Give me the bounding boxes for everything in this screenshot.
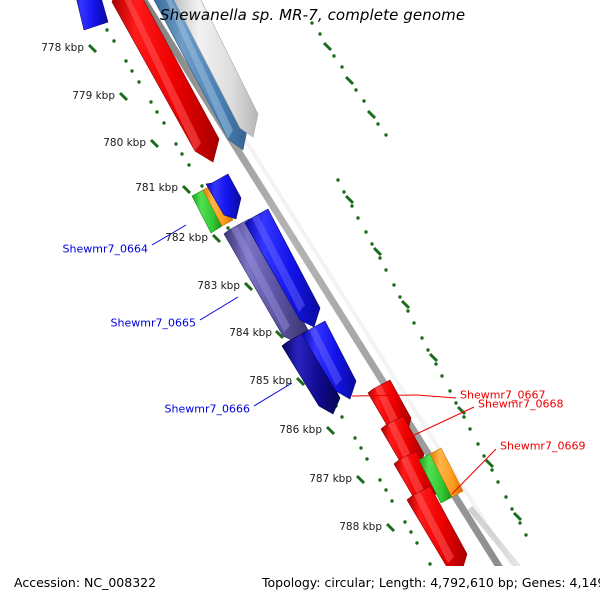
ruler-tick-label: 788 kbp xyxy=(339,521,382,533)
ruler-tick-label: 781 kbp xyxy=(135,182,178,194)
ruler-tick-label: 779 kbp xyxy=(72,90,115,102)
gene-label-shewmr7-0665[interactable]: Shewmr7_0665 xyxy=(111,317,196,330)
leader-0665 xyxy=(200,297,238,320)
leader-0667a xyxy=(417,395,456,398)
accession-text: Accession: NC_008322 xyxy=(14,575,156,590)
ruler-tick-marks xyxy=(89,45,426,577)
ruler-tick-label: 782 kbp xyxy=(165,232,208,244)
genome-map-canvas[interactable]: Shewanella sp. MR-7, complete genome 778… xyxy=(0,0,600,600)
gene-label-shewmr7-0668[interactable]: Shewmr7_0668 xyxy=(478,398,563,411)
feat-blue-top[interactable] xyxy=(72,0,108,30)
page-title: Shewanella sp. MR-7, complete genome xyxy=(160,6,465,24)
gene-label-shewmr7-0666[interactable]: Shewmr7_0666 xyxy=(165,403,250,416)
ruler-tick-label: 785 kbp xyxy=(249,375,292,387)
ruler-tick-label: 778 kbp xyxy=(41,42,84,54)
leader-0669 xyxy=(452,449,496,494)
ruler-tick-label: 784 kbp xyxy=(229,327,272,339)
ruler-tick-label: 786 kbp xyxy=(279,424,322,436)
ruler-tick-label: 780 kbp xyxy=(103,137,146,149)
gene-label-shewmr7-0669[interactable]: Shewmr7_0669 xyxy=(500,440,585,453)
leader-0668 xyxy=(410,407,474,437)
backbone-line-outer xyxy=(136,0,520,600)
genome-backbone[interactable] xyxy=(136,0,545,600)
status-bar: Accession: NC_008322 Topology: circular;… xyxy=(0,566,600,600)
topology-text: Topology: circular; Length: 4,792,610 bp… xyxy=(262,575,600,590)
ruler-tick-label: 783 kbp xyxy=(197,280,240,292)
ruler-tick-label: 787 kbp xyxy=(309,473,352,485)
gene-label-shewmr7-0664[interactable]: Shewmr7_0664 xyxy=(63,243,148,256)
